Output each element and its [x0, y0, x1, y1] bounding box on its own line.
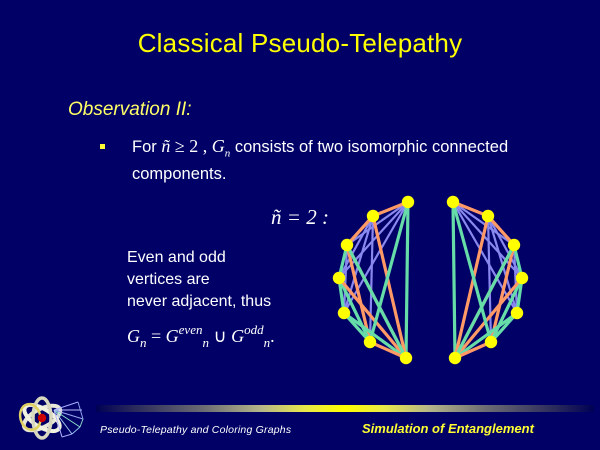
explanation-line-2: vertices are	[127, 269, 337, 291]
bullet-marker-icon	[100, 144, 105, 149]
graph-vertex	[400, 352, 412, 364]
graph-vertex	[338, 307, 350, 319]
math-G: G	[212, 136, 225, 156]
graph-edge	[347, 245, 406, 358]
decomp-equals: =	[147, 326, 166, 346]
observation-heading: Observation II:	[68, 99, 192, 121]
graph-vertex	[511, 307, 523, 319]
decomp-rhs2-G: G	[231, 326, 244, 346]
bullet-text-part1: For	[132, 138, 161, 156]
explanation-line-3: never adjacent, thus	[127, 291, 337, 313]
graph-vertex	[367, 210, 379, 222]
graph-edges-layer	[339, 202, 522, 358]
graph-edge	[488, 216, 491, 342]
decomp-lhs-G: G	[127, 326, 140, 346]
decomp-rhs1-G: G	[166, 326, 179, 346]
decomp-rhs1-sup: even	[179, 322, 203, 337]
bullet-block: For ñ ≥ 2 , Gn consists of two isomorph…	[100, 136, 540, 185]
explanation-text: Even and odd vertices are never adjacent…	[127, 247, 337, 313]
explanation-line-1: Even and odd	[127, 247, 337, 269]
bullet-text: For ñ ≥ 2 , Gn consists of two isomorph…	[132, 136, 540, 185]
graph-vertex	[508, 239, 520, 251]
slide-title: Classical Pseudo-Telepathy	[0, 28, 600, 59]
graph-vertex	[485, 336, 497, 348]
footer-divider	[96, 405, 594, 412]
decomposition-equation: Gn = Gevenn ∪ Goddn.	[127, 322, 275, 351]
graph-vertex	[447, 196, 459, 208]
decomp-union: ∪	[209, 326, 231, 346]
footer-right-text: Simulation of Entanglement	[362, 421, 534, 436]
graph-figure	[330, 188, 540, 390]
graph-edge	[406, 202, 408, 358]
graph-svg	[330, 188, 540, 390]
graph-edge	[370, 216, 373, 342]
footer-left-text: Pseudo-Telepathy and Coloring Graphs	[100, 424, 291, 436]
graph-vertex	[341, 239, 353, 251]
decomp-period: .	[270, 326, 275, 346]
graph-vertex	[402, 196, 414, 208]
graph-edge	[455, 245, 514, 358]
graph-vertex	[516, 272, 528, 284]
graph-vertex	[333, 272, 345, 284]
graph-vertex	[364, 336, 376, 348]
presentation-slide: Classical Pseudo-Telepathy Observation I…	[0, 0, 600, 450]
math-ge-two: ≥ 2 ,	[170, 136, 211, 156]
graph-edge	[453, 202, 455, 358]
graph-vertex	[449, 352, 461, 364]
atom-logo-icon	[12, 394, 92, 448]
math-n-tilde: ñ	[161, 136, 170, 156]
graph-vertex	[482, 210, 494, 222]
decomp-rhs2-sup: odd	[244, 322, 264, 337]
